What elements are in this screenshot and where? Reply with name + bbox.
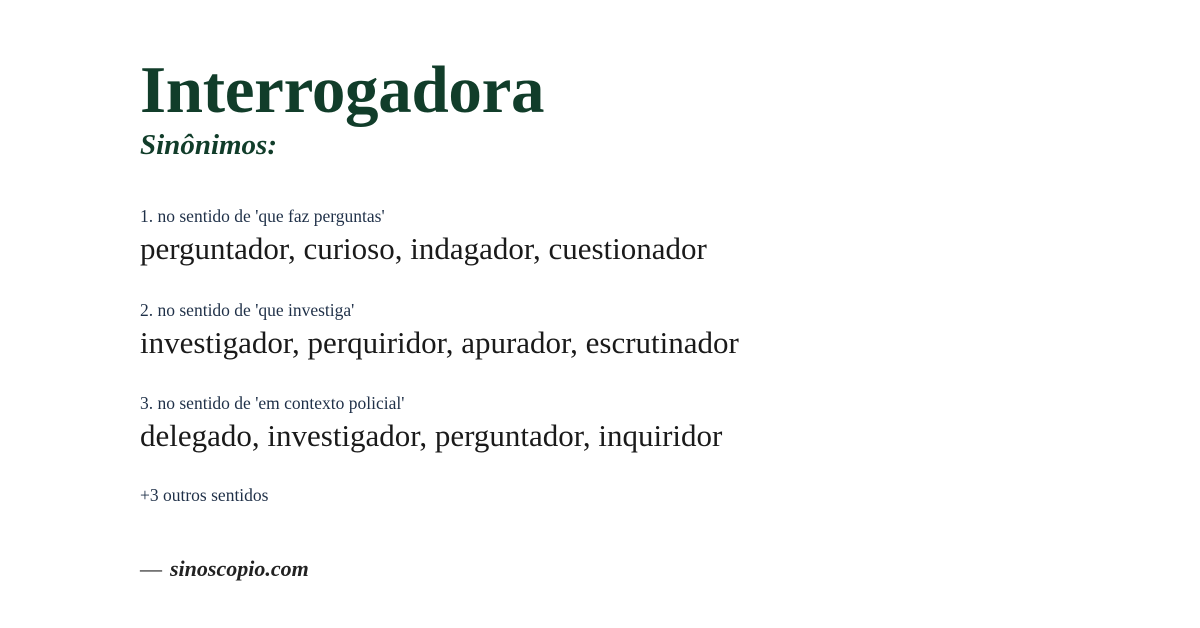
sense-label: 2. no sentido de 'que investiga' <box>140 300 1160 321</box>
sense-entry: 1. no sentido de 'que faz perguntas' per… <box>140 206 1160 268</box>
sense-label: 1. no sentido de 'que faz perguntas' <box>140 206 1160 227</box>
sense-label: 3. no sentido de 'em contexto policial' <box>140 393 1160 414</box>
card-content: Interrogadora Sinônimos: 1. no sentido d… <box>140 56 1160 582</box>
attribution: —sinoscopio.com <box>140 556 1160 582</box>
more-senses-note: +3 outros sentidos <box>140 485 1160 506</box>
sense-synonyms: perguntador, curioso, indagador, cuestio… <box>140 231 1160 268</box>
sense-synonyms: investigador, perquiridor, apurador, esc… <box>140 325 1160 362</box>
sense-list: 1. no sentido de 'que faz perguntas' per… <box>140 206 1160 455</box>
sense-entry: 2. no sentido de 'que investiga' investi… <box>140 300 1160 362</box>
sense-synonyms: delegado, investigador, perguntador, inq… <box>140 418 1160 455</box>
subtitle-synonyms: Sinônimos: <box>140 130 1160 162</box>
attribution-source: sinoscopio.com <box>170 556 309 581</box>
sense-entry: 3. no sentido de 'em contexto policial' … <box>140 393 1160 455</box>
synonym-card: Interrogadora Sinônimos: 1. no sentido d… <box>0 0 1200 628</box>
em-dash-glyph: — <box>140 556 162 581</box>
page-title: Interrogadora <box>140 56 1160 124</box>
